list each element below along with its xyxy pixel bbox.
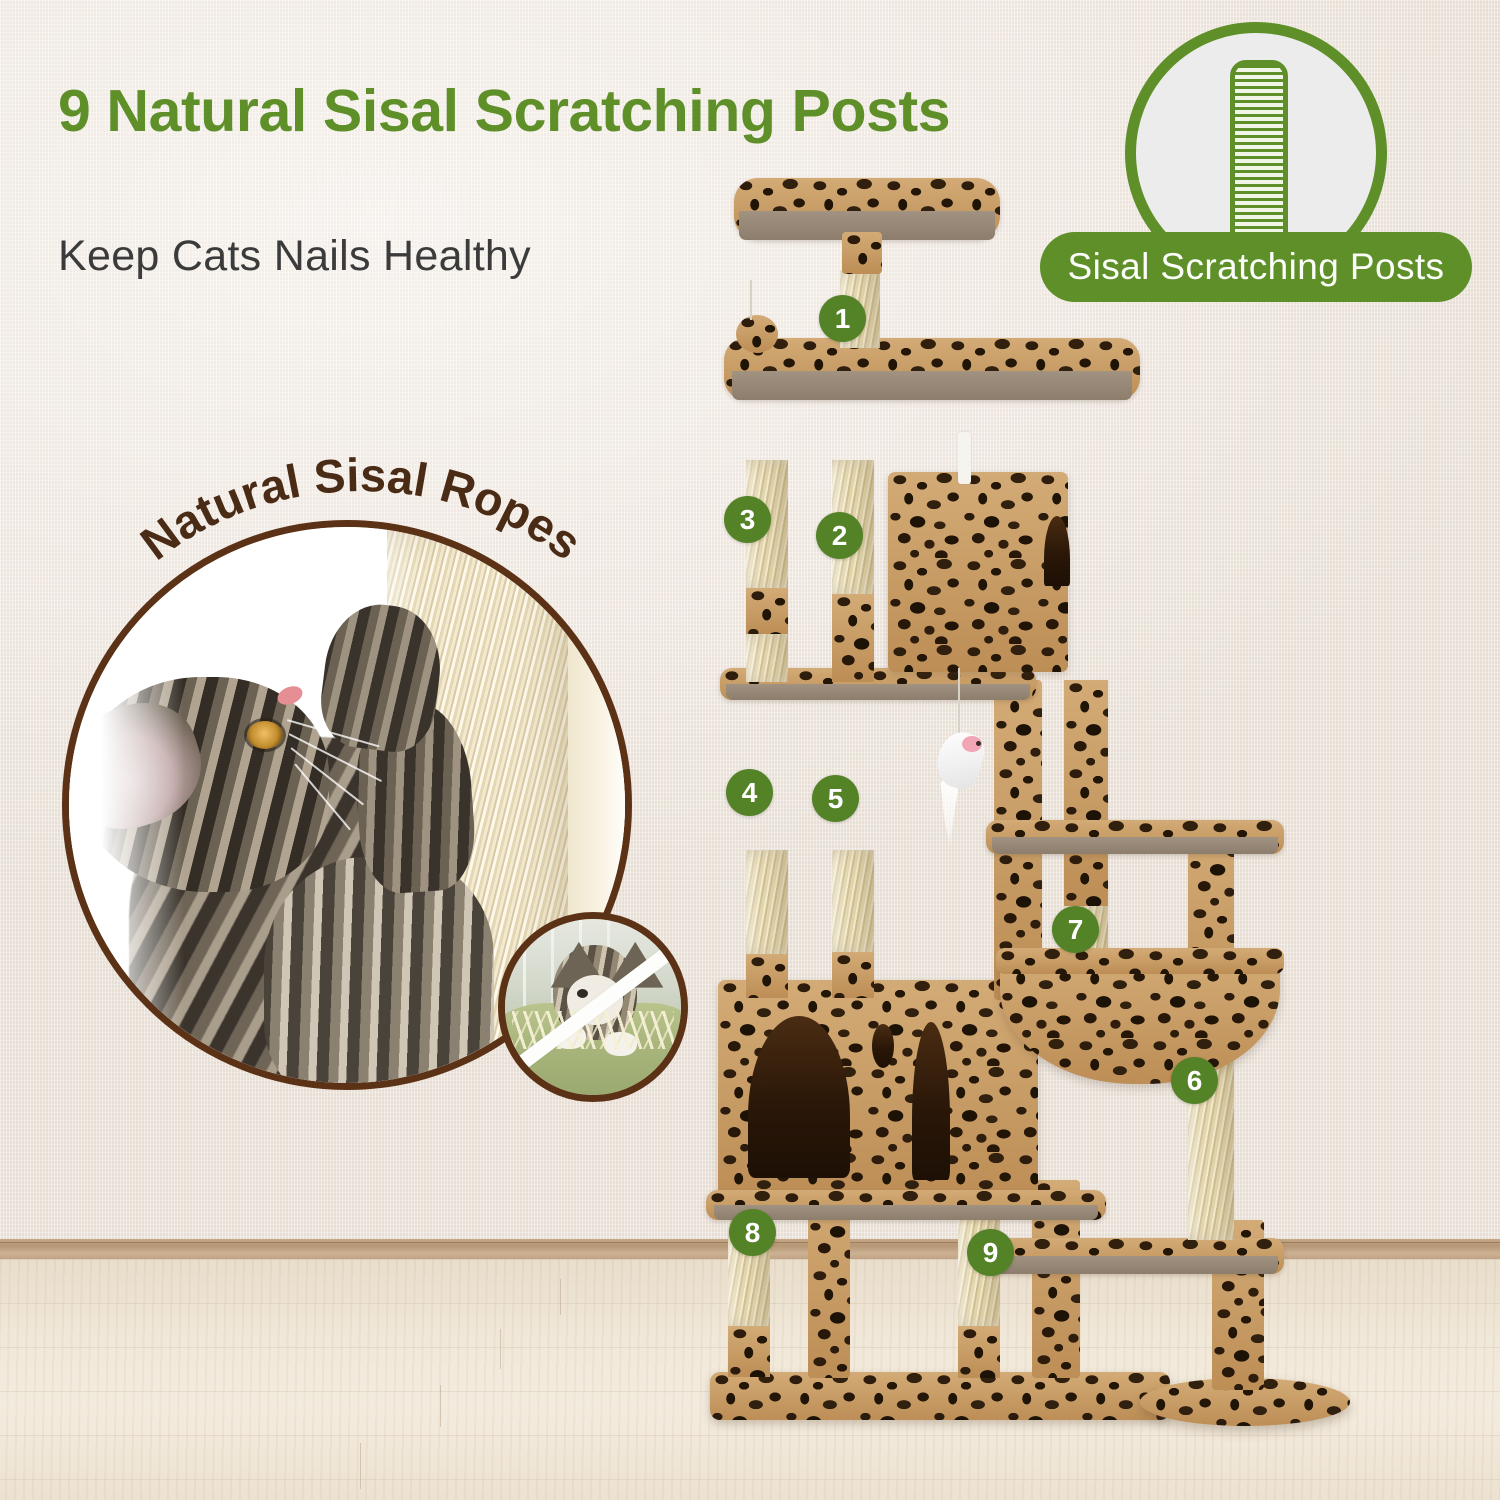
post-number-badge-2: 2 [816,512,863,559]
shelf-underside [726,684,1029,700]
upper-condo [888,472,1068,672]
shelf-underside [992,837,1278,854]
post-number-badge-3: 3 [724,496,771,543]
mouse-toy [932,732,984,850]
pom-pom-string [750,280,752,320]
tree-shelf-lower [986,1238,1284,1274]
pom-pom-toy [736,315,778,353]
page-title: 9 Natural Sisal Scratching Posts [58,78,988,145]
perch-underside [732,371,1131,400]
floor-seam [560,1279,561,1315]
mouse-toy-string [958,668,960,738]
floor-seam [500,1329,501,1369]
hanging-tag [958,432,971,484]
floor-seam [440,1385,441,1427]
scratch-post-2 [832,460,874,682]
photo-edge-fade [69,527,184,1083]
shelf-underside [992,1256,1278,1274]
cat-eye [247,721,283,749]
hammock-rim [996,948,1284,974]
post-number-badge-4: 4 [726,769,773,816]
cat-chest [264,857,494,1090]
tree-perch-upper [724,338,1140,400]
post-number-badge-1: 1 [819,295,866,342]
post-number-badge-7: 7 [1052,906,1099,953]
cat-tree-product [700,160,1340,1460]
condo-peephole [872,1024,894,1068]
post-number-badge-6: 6 [1171,1057,1218,1104]
scratch-post-3 [746,460,788,682]
floor-seam [360,1443,361,1489]
scratch-post-5 [832,850,874,998]
tree-shelf-side-perch [986,820,1284,854]
tree-top-perch [734,178,1000,240]
top-perch-collar [842,232,882,274]
post-number-badge-8: 8 [729,1209,776,1256]
mouse-toy-body [931,727,989,793]
tree-base-main [710,1372,1170,1420]
mouse-toy-eye [976,741,981,746]
product-infographic: 9 Natural Sisal Scratching Posts Keep Ca… [0,0,1500,1500]
post-number-badge-5: 5 [812,775,859,822]
inset-photo-circle [498,912,688,1102]
scratch-post-4 [746,850,788,998]
shelf-underside [714,1205,1098,1220]
post-number-badge-9: 9 [967,1229,1014,1276]
